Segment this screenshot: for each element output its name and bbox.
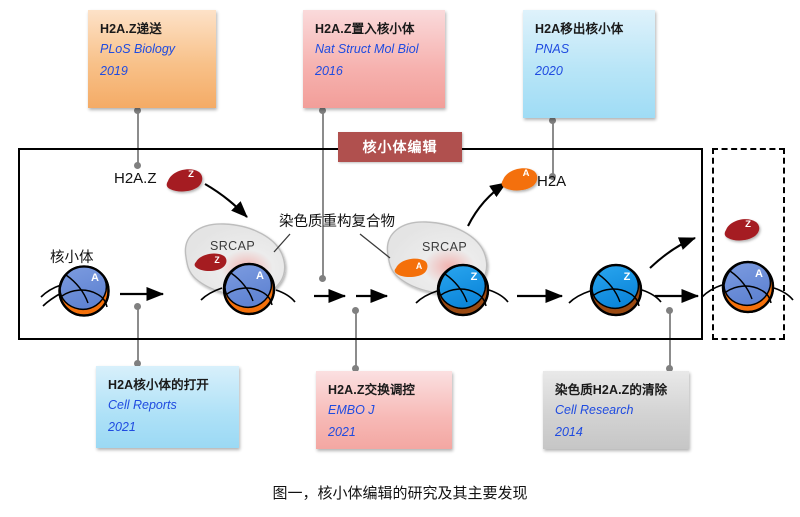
card-title: 染色质H2A.Z的清除 bbox=[555, 381, 677, 400]
banner-label: 核小体编辑 bbox=[363, 137, 438, 157]
card-year: 2016 bbox=[315, 61, 433, 83]
card-h2az-delivery[interactable]: H2A.Z递送 PLoS Biology 2019 bbox=[88, 10, 216, 108]
card-chromatin-h2az-removal[interactable]: 染色质H2A.Z的清除 Cell Research 2014 bbox=[543, 371, 689, 449]
card-h2az-exchange-regulation[interactable]: H2A.Z交换调控 EMBO J 2021 bbox=[316, 371, 452, 449]
label-nucleosome: 核小体 bbox=[50, 246, 94, 267]
leader-dot-top-1a bbox=[134, 107, 141, 114]
card-title: H2A核小体的打开 bbox=[108, 376, 227, 395]
card-title: H2A.Z递送 bbox=[100, 20, 204, 39]
card-journal: PNAS bbox=[535, 39, 643, 61]
card-title: H2A移出核小体 bbox=[535, 20, 643, 39]
card-year: 2021 bbox=[328, 422, 440, 444]
figure-root: 核小体编辑 H2A.Z递送 PLoS Biology 2019 H2A.Z置入核… bbox=[0, 0, 800, 517]
card-year: 2020 bbox=[535, 61, 643, 83]
label-srcap-2: SRCAP bbox=[422, 240, 467, 254]
label-srcap-1: SRCAP bbox=[210, 239, 255, 253]
card-year: 2014 bbox=[555, 422, 677, 444]
card-year: 2021 bbox=[108, 417, 227, 439]
card-title: H2A.Z置入核小体 bbox=[315, 20, 433, 39]
label-h2az-free: H2A.Z bbox=[114, 170, 157, 187]
card-journal: EMBO J bbox=[328, 400, 440, 422]
figure-caption: 图一，核小体编辑的研究及其主要发现 bbox=[0, 482, 800, 503]
card-journal: Cell Research bbox=[555, 400, 677, 422]
card-journal: PLoS Biology bbox=[100, 39, 204, 61]
card-h2a-eviction[interactable]: H2A移出核小体 PNAS 2020 bbox=[523, 10, 655, 118]
card-year: 2019 bbox=[100, 61, 204, 83]
leader-dot-top-2a bbox=[319, 107, 326, 114]
outcome-dashed-frame bbox=[712, 148, 785, 340]
card-title: H2A.Z交换调控 bbox=[328, 381, 440, 400]
banner-nucleosome-editing: 核小体编辑 bbox=[338, 132, 462, 162]
card-h2az-deposition[interactable]: H2A.Z置入核小体 Nat Struct Mol Biol 2016 bbox=[303, 10, 445, 108]
label-remodeler-complex: 染色质重构复合物 bbox=[279, 210, 395, 231]
leader-dot-top-3a bbox=[549, 117, 556, 124]
card-h2a-nucleosome-opening[interactable]: H2A核小体的打开 Cell Reports 2021 bbox=[96, 366, 239, 448]
card-journal: Nat Struct Mol Biol bbox=[315, 39, 433, 61]
card-journal: Cell Reports bbox=[108, 395, 227, 417]
label-h2a-free: H2A bbox=[537, 173, 566, 190]
